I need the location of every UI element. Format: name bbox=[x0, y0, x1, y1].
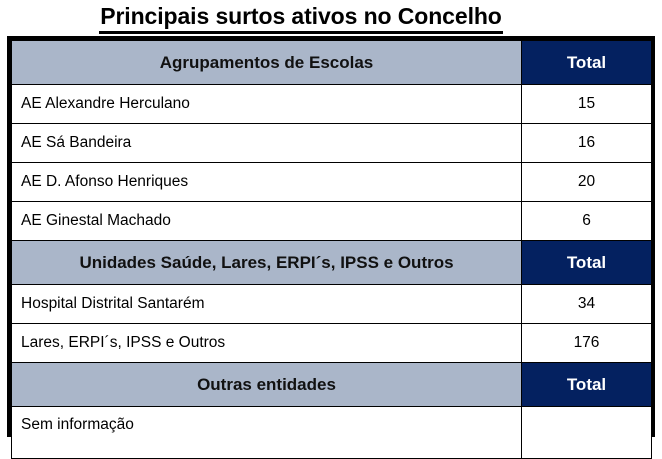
row-total: 176 bbox=[522, 324, 652, 363]
outbreaks-table-frame: Agrupamentos de Escolas Total AE Alexand… bbox=[7, 36, 655, 437]
outbreak-summary-page: Principais surtos ativos no Concelho Agr… bbox=[0, 0, 662, 451]
row-label: AE Alexandre Herculano bbox=[12, 85, 522, 124]
section-header-total: Total bbox=[522, 41, 652, 85]
table-row: AE Alexandre Herculano 15 bbox=[12, 85, 652, 124]
table-row: AE D. Afonso Henriques 20 bbox=[12, 163, 652, 202]
table-section-header-row: Unidades Saúde, Lares, ERPI´s, IPSS e Ou… bbox=[12, 241, 652, 285]
section-header-label: Outras entidades bbox=[12, 363, 522, 407]
row-label: AE D. Afonso Henriques bbox=[12, 163, 522, 202]
table-row: AE Ginestal Machado 6 bbox=[12, 202, 652, 241]
section-header-label: Unidades Saúde, Lares, ERPI´s, IPSS e Ou… bbox=[12, 241, 522, 285]
row-total: 6 bbox=[522, 202, 652, 241]
table-section-header-row: Agrupamentos de Escolas Total bbox=[12, 41, 652, 85]
row-label: Lares, ERPI´s, IPSS e Outros bbox=[12, 324, 522, 363]
row-total: 34 bbox=[522, 285, 652, 324]
outbreaks-table: Agrupamentos de Escolas Total AE Alexand… bbox=[11, 40, 652, 459]
table-row: Hospital Distrital Santarém 34 bbox=[12, 285, 652, 324]
section-header-total: Total bbox=[522, 241, 652, 285]
table-row: Lares, ERPI´s, IPSS e Outros 176 bbox=[12, 324, 652, 363]
page-title: Principais surtos ativos no Concelho bbox=[99, 2, 503, 34]
section-header-label: Agrupamentos de Escolas bbox=[12, 41, 522, 85]
row-label: AE Sá Bandeira bbox=[12, 124, 522, 163]
row-label: AE Ginestal Machado bbox=[12, 202, 522, 241]
table-section-header-row: Outras entidades Total bbox=[12, 363, 652, 407]
row-label: Hospital Distrital Santarém bbox=[12, 285, 522, 324]
outbreaks-table-body: Agrupamentos de Escolas Total AE Alexand… bbox=[12, 41, 652, 459]
table-row: AE Sá Bandeira 16 bbox=[12, 124, 652, 163]
row-total: 16 bbox=[522, 124, 652, 163]
page-title-container: Principais surtos ativos no Concelho bbox=[0, 0, 602, 36]
row-total: 15 bbox=[522, 85, 652, 124]
row-total: 20 bbox=[522, 163, 652, 202]
section-header-total: Total bbox=[522, 363, 652, 407]
